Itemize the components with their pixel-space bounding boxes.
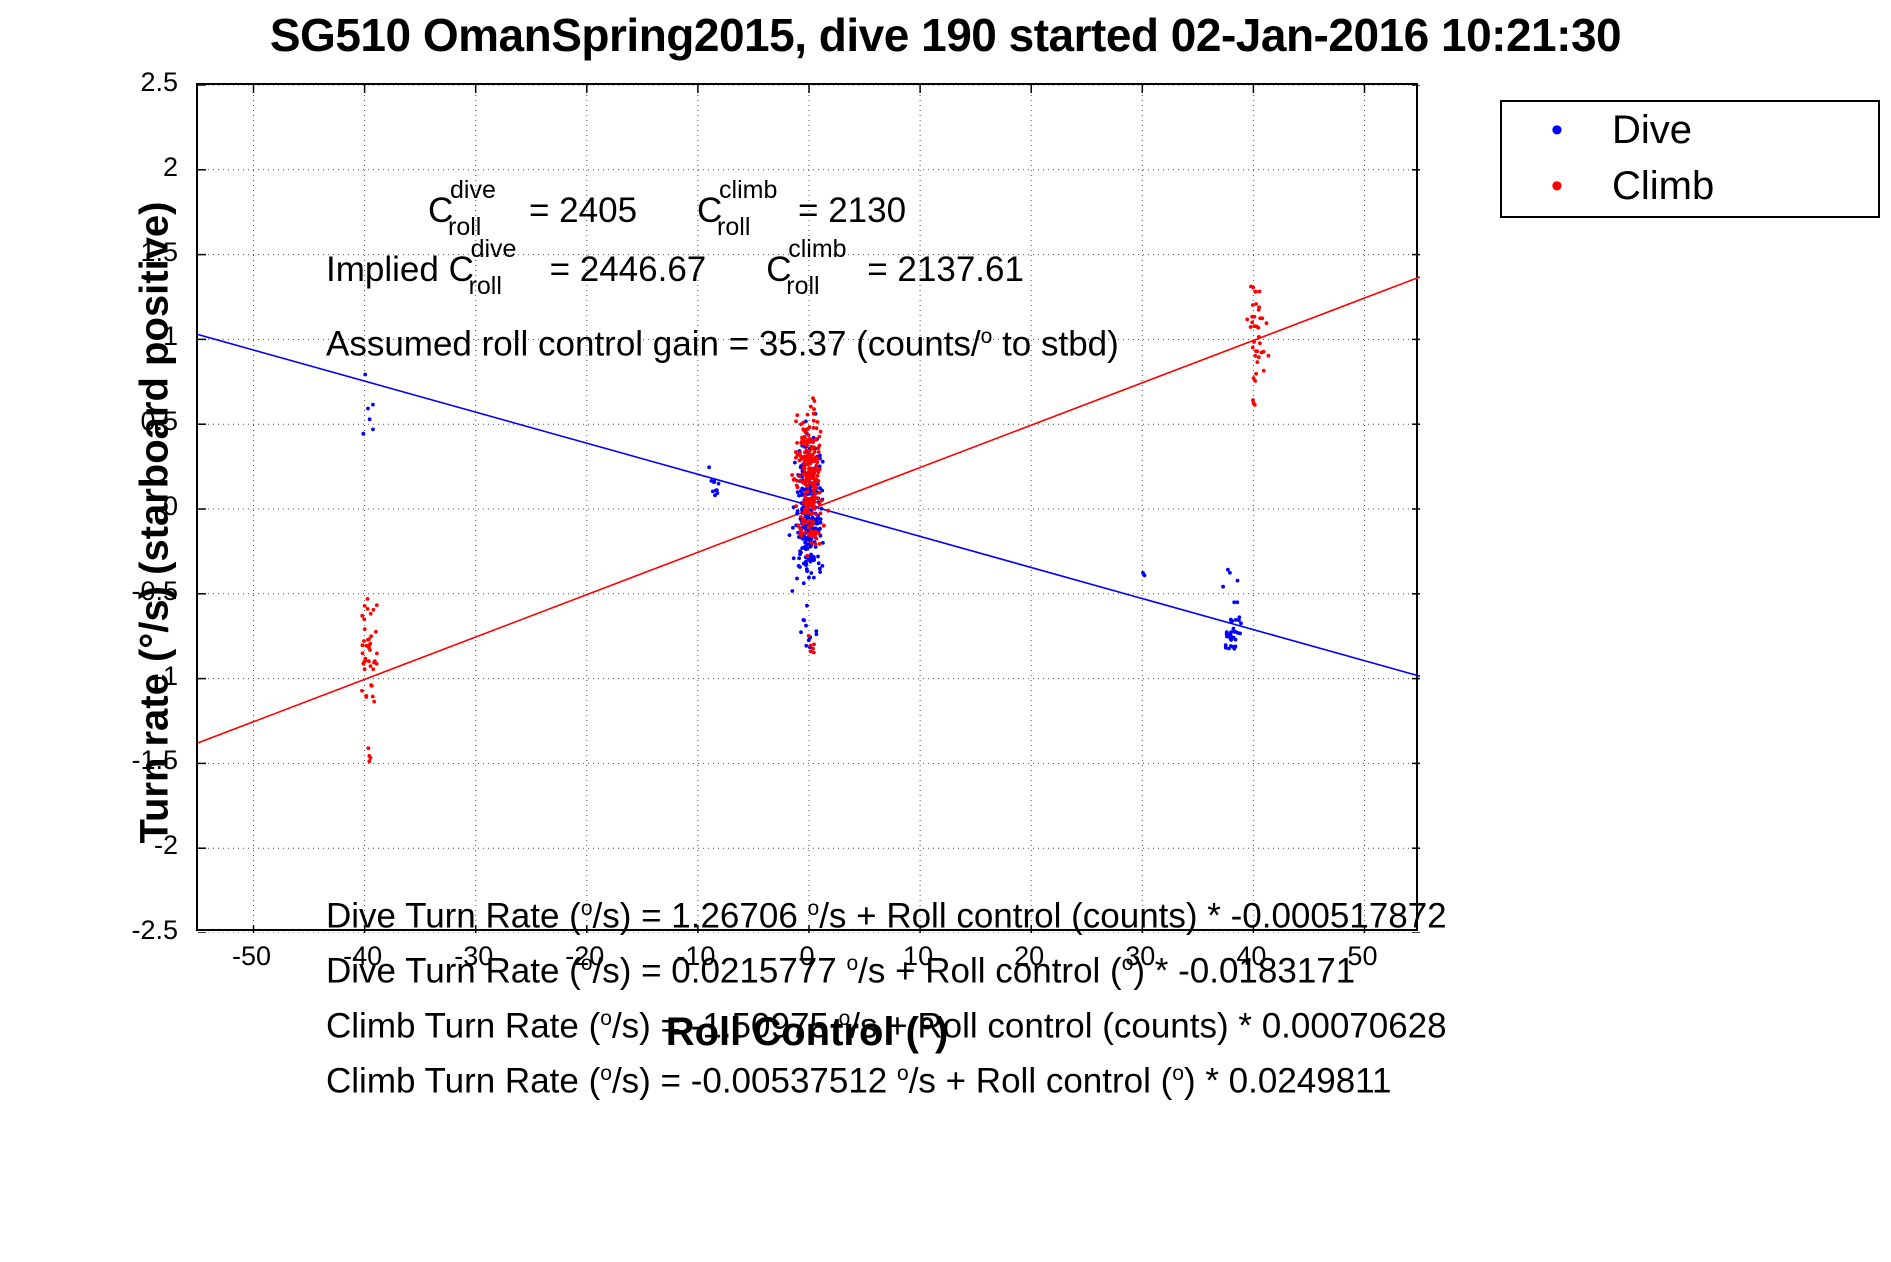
c-subscript: roll [717,210,750,245]
x-tick-label: -10 [636,943,756,970]
legend: • Dive • Climb [1500,100,1880,218]
y-tick-label: 0.5 [58,408,178,435]
annotation-equation-1: Dive Turn Rate (o/s) = 1.26706 o/s + Rol… [326,891,1447,934]
annotation-c-roll-nominal: Cdiveroll = 2405Cclimbroll = 2130 [428,193,906,228]
annotation-equation-4: Climb Turn Rate (o/s) = -0.00537512 o/s … [326,1056,1392,1099]
c-roll-symbol: Cclimbroll [697,193,788,228]
x-tick-label: 40 [1191,943,1311,970]
chart-page: SG510 OmanSpring2015, dive 190 started 0… [0,0,1891,1262]
c-superscript: climb [788,232,846,267]
c-subscript: roll [469,269,502,304]
y-tick-label: -1 [58,663,178,690]
y-tick-label: 0 [58,493,178,520]
x-tick-label: -40 [303,943,423,970]
y-tick-label: 2.5 [58,69,178,96]
x-tick-label: 20 [969,943,1089,970]
y-tick-label: 1.5 [58,239,178,266]
c-superscript: dive [450,173,496,208]
c-roll-symbol: Cdiveroll [428,193,519,228]
y-tick-label: -2.5 [58,917,178,944]
legend-marker-climb-icon: • [1502,181,1612,191]
legend-item-dive[interactable]: • Dive [1502,102,1878,158]
page-title: SG510 OmanSpring2015, dive 190 started 0… [0,8,1891,62]
legend-item-climb[interactable]: • Climb [1502,158,1878,214]
x-tick-label: -50 [192,943,312,970]
x-axis-title: Roll Control (°) [196,1010,1418,1055]
c-superscript: climb [719,173,777,208]
x-tick-label: 0 [747,943,867,970]
legend-label-dive: Dive [1612,110,1692,150]
y-tick-label: -1.5 [58,747,178,774]
plot-area: Cdiveroll = 2405Cclimbroll = 2130Implied… [196,83,1418,931]
annotation-layer: Cdiveroll = 2405Cclimbroll = 2130Implied… [198,85,1416,929]
c-roll-symbol: Cdiveroll [449,252,540,287]
annotation-c-roll-implied: Implied Cdiveroll = 2446.67Cclimbroll = … [326,252,1024,287]
y-tick-label: -0.5 [58,578,178,605]
c-roll-symbol: Cclimbroll [766,252,857,287]
legend-label-climb: Climb [1612,166,1714,206]
y-tick-label: 1 [58,323,178,350]
legend-marker-dive-icon: • [1502,125,1612,135]
c-superscript: dive [471,232,517,267]
y-tick-label: -2 [58,832,178,859]
x-tick-label: 50 [1302,943,1422,970]
annotation-roll-gain: Assumed roll control gain = 35.37 (count… [326,319,1119,362]
x-tick-label: -30 [414,943,534,970]
y-tick-label: 2 [58,154,178,181]
c-subscript: roll [786,269,819,304]
x-tick-label: -20 [525,943,645,970]
x-tick-label: 10 [858,943,978,970]
x-tick-label: 30 [1080,943,1200,970]
